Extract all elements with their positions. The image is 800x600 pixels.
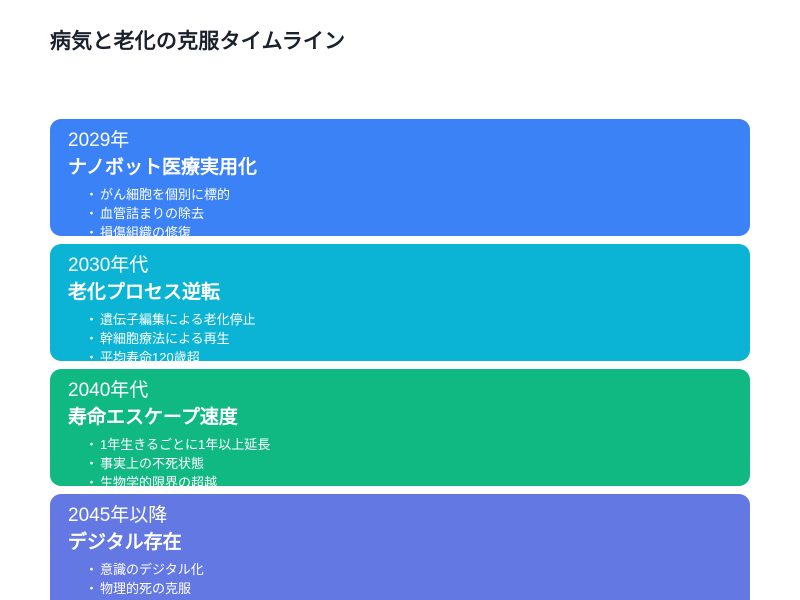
timeline-bullet-text: 意識のデジタル化: [100, 560, 204, 579]
timeline-card[interactable]: 2040年代寿命エスケープ速度・1年生きるごとに1年以上延長・事実上の不死状態・…: [50, 369, 750, 486]
bullet-dot-icon: ・: [85, 223, 98, 236]
timeline-bullet-text: がん細胞を個別に標的: [100, 185, 230, 204]
timeline-bullet-item: ・意識のデジタル化: [85, 560, 750, 579]
timeline-bullet-item: ・生物学的限界の超越: [85, 473, 750, 486]
timeline-bullet-item: ・血管詰まりの除去: [85, 204, 750, 223]
timeline-bullet-item: ・がん細胞を個別に標的: [85, 185, 750, 204]
timeline-card-year: 2030年代: [68, 253, 750, 279]
timeline-card-year: 2029年: [68, 128, 750, 154]
bullet-dot-icon: ・: [85, 454, 98, 473]
timeline-card[interactable]: 2029年ナノボット医療実用化・がん細胞を個別に標的・血管詰まりの除去・損傷組織…: [50, 119, 750, 236]
timeline-card-heading: デジタル存在: [68, 529, 750, 556]
bullet-dot-icon: ・: [85, 185, 98, 204]
timeline-bullet-item: ・幹細胞療法による再生: [85, 329, 750, 348]
timeline-bullet-item: ・物理的死の克服: [85, 579, 750, 598]
timeline-bullet-item: ・事実上の不死状態: [85, 454, 750, 473]
timeline-bullet-text: 幹細胞療法による再生: [100, 329, 230, 348]
timeline-list: 2029年ナノボット医療実用化・がん細胞を個別に標的・血管詰まりの除去・損傷組織…: [50, 119, 750, 600]
timeline-card-bullet-list: ・意識のデジタル化・物理的死の克服・新しい存在形態: [68, 560, 750, 600]
timeline-bullet-item: ・遺伝子編集による老化停止: [85, 310, 750, 329]
timeline-card-bullet-list: ・がん細胞を個別に標的・血管詰まりの除去・損傷組織の修復: [68, 185, 750, 236]
timeline-bullet-text: 生物学的限界の超越: [100, 473, 217, 486]
timeline-bullet-text: 血管詰まりの除去: [100, 204, 204, 223]
timeline-bullet-text: 平均寿命120歳超: [100, 348, 200, 361]
timeline-bullet-text: 1年生きるごとに1年以上延長: [100, 435, 270, 454]
timeline-bullet-text: 損傷組織の修復: [100, 223, 191, 236]
timeline-bullet-text: 遺伝子編集による老化停止: [100, 310, 256, 329]
timeline-page: 病気と老化の克服タイムライン 2029年ナノボット医療実用化・がん細胞を個別に標…: [0, 0, 800, 600]
timeline-bullet-text: 物理的死の克服: [100, 579, 191, 598]
page-title: 病気と老化の克服タイムライン: [50, 25, 345, 55]
timeline-card-heading: 老化プロセス逆転: [68, 279, 750, 306]
timeline-card[interactable]: 2045年以降デジタル存在・意識のデジタル化・物理的死の克服・新しい存在形態: [50, 494, 750, 600]
bullet-dot-icon: ・: [85, 348, 98, 361]
timeline-card-year: 2040年代: [68, 378, 750, 404]
bullet-dot-icon: ・: [85, 329, 98, 348]
timeline-bullet-item: ・損傷組織の修復: [85, 223, 750, 236]
bullet-dot-icon: ・: [85, 579, 98, 598]
bullet-dot-icon: ・: [85, 310, 98, 329]
bullet-dot-icon: ・: [85, 435, 98, 454]
timeline-bullet-text: 事実上の不死状態: [100, 454, 204, 473]
timeline-card-bullet-list: ・遺伝子編集による老化停止・幹細胞療法による再生・平均寿命120歳超: [68, 310, 750, 361]
bullet-dot-icon: ・: [85, 473, 98, 486]
timeline-bullet-item: ・1年生きるごとに1年以上延長: [85, 435, 750, 454]
timeline-bullet-item: ・平均寿命120歳超: [85, 348, 750, 361]
timeline-card-year: 2045年以降: [68, 503, 750, 529]
bullet-dot-icon: ・: [85, 560, 98, 579]
timeline-card[interactable]: 2030年代老化プロセス逆転・遺伝子編集による老化停止・幹細胞療法による再生・平…: [50, 244, 750, 361]
timeline-card-heading: 寿命エスケープ速度: [68, 404, 750, 431]
timeline-card-bullet-list: ・1年生きるごとに1年以上延長・事実上の不死状態・生物学的限界の超越: [68, 435, 750, 486]
bullet-dot-icon: ・: [85, 204, 98, 223]
timeline-card-heading: ナノボット医療実用化: [68, 154, 750, 181]
